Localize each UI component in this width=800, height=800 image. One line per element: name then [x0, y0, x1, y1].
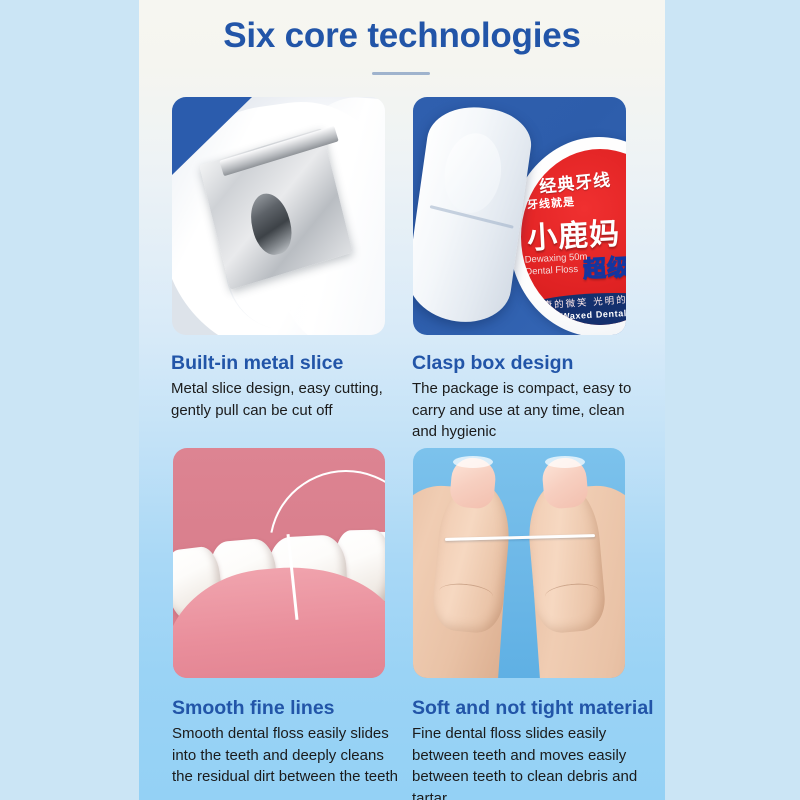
label-english-line2: Dental Floss [525, 264, 578, 278]
label-english-line1: Dewaxing 50m [524, 251, 587, 265]
label-sub-text: 牙线就是 [527, 193, 576, 212]
clasp-highlight [440, 130, 507, 217]
left-nail-tip [453, 456, 493, 468]
card-body-metal-slice: Metal slice design, easy cutting, gently… [171, 378, 383, 421]
clasp-case-shape [413, 101, 535, 328]
fingers-floss-photo [413, 448, 625, 678]
right-nail-tip [545, 456, 585, 468]
card-body-clasp-box: The package is compact, easy to carry an… [412, 378, 634, 443]
title-divider [372, 72, 430, 75]
card-heading-clasp-box: Clasp box design [412, 352, 573, 375]
clasp-box-photo: 经典牙线 牙线就是 小鹿妈 超级 Dewaxing 50m Dental Flo… [413, 97, 626, 335]
infographic-page: Six core technologies Built-in metal sli… [0, 0, 800, 800]
page-title: Six core technologies [139, 16, 665, 56]
teeth-flossing-photo [173, 448, 385, 678]
label-top-text: 经典牙线 [538, 165, 612, 197]
card-body-soft-material: Fine dental floss slides easily between … [412, 723, 644, 800]
card-heading-soft-material: Soft and not tight material [412, 697, 654, 720]
card-heading-smooth-fine-lines: Smooth fine lines [172, 697, 335, 720]
blue-corner-accent [172, 97, 252, 175]
label-english-text: Dewaxing 50m Dental Floss [524, 251, 588, 278]
card-heading-metal-slice: Built-in metal slice [171, 352, 343, 375]
card-body-smooth-fine-lines: Smooth dental floss easily slides into t… [172, 723, 398, 788]
label-super-text: 超级 [582, 248, 626, 284]
metal-slice-photo [172, 97, 385, 335]
